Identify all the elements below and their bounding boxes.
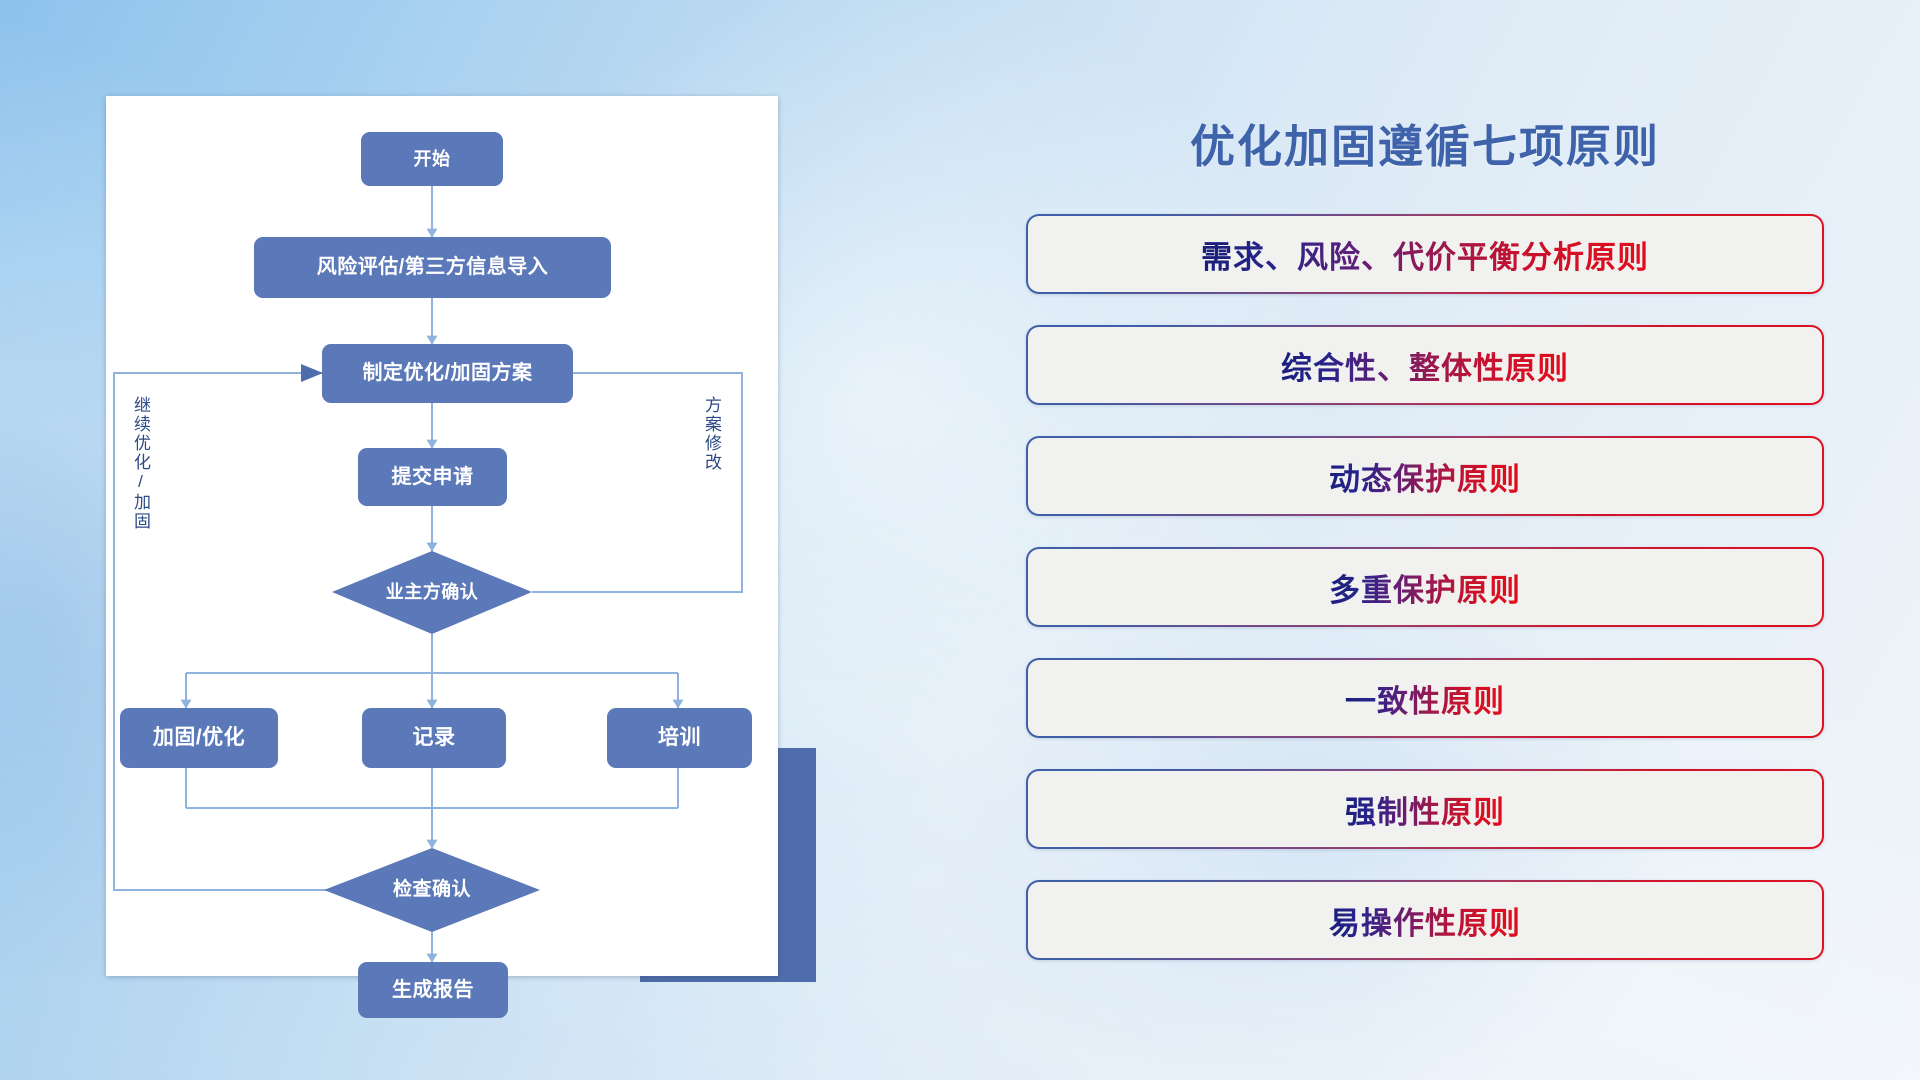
principle-label: 多重保护原则	[1329, 565, 1521, 610]
principle-card-2[interactable]: 综合性、整体性原则	[1026, 325, 1824, 405]
edge-label-left-loop: 继续优化/加固	[132, 396, 149, 531]
flowchart-nodes-lower	[106, 96, 778, 976]
principle-label: 动态保护原则	[1329, 454, 1521, 499]
page-title: 优化加固遵循七项原则	[1010, 110, 1840, 175]
principle-card-inner: 强制性原则	[1028, 771, 1822, 847]
principle-card-3[interactable]: 动态保护原则	[1026, 436, 1824, 516]
principle-card-6[interactable]: 强制性原则	[1026, 769, 1824, 849]
principle-card-inner: 需求、风险、代价平衡分析原则	[1028, 216, 1822, 292]
principle-card-inner: 动态保护原则	[1028, 438, 1822, 514]
principle-label: 需求、风险、代价平衡分析原则	[1201, 232, 1649, 277]
principle-label: 综合性、整体性原则	[1281, 343, 1569, 388]
principle-card-inner: 多重保护原则	[1028, 549, 1822, 625]
principles-panel: 优化加固遵循七项原则 需求、风险、代价平衡分析原则 综合性、整体性原则 动态保护…	[1010, 96, 1840, 996]
principles-list: 需求、风险、代价平衡分析原则 综合性、整体性原则 动态保护原则 多重保护原则 一…	[1026, 214, 1824, 991]
principle-card-1[interactable]: 需求、风险、代价平衡分析原则	[1026, 214, 1824, 294]
principle-card-4[interactable]: 多重保护原则	[1026, 547, 1824, 627]
principle-card-7[interactable]: 易操作性原则	[1026, 880, 1824, 960]
principle-card-inner: 综合性、整体性原则	[1028, 327, 1822, 403]
node-report-box	[358, 962, 508, 1018]
edge-label-right-loop: 方案修改	[703, 396, 720, 472]
principle-card-5[interactable]: 一致性原则	[1026, 658, 1824, 738]
principle-card-inner: 一致性原则	[1028, 660, 1822, 736]
principle-label: 易操作性原则	[1329, 898, 1521, 943]
principle-label: 强制性原则	[1345, 787, 1505, 832]
flowchart-card: 开始 风险评估/第三方信息导入 制定优化/加固方案 提交申请 业主方确认 加固/…	[106, 96, 778, 976]
principle-card-inner: 易操作性原则	[1028, 882, 1822, 958]
principle-label: 一致性原则	[1345, 676, 1505, 721]
